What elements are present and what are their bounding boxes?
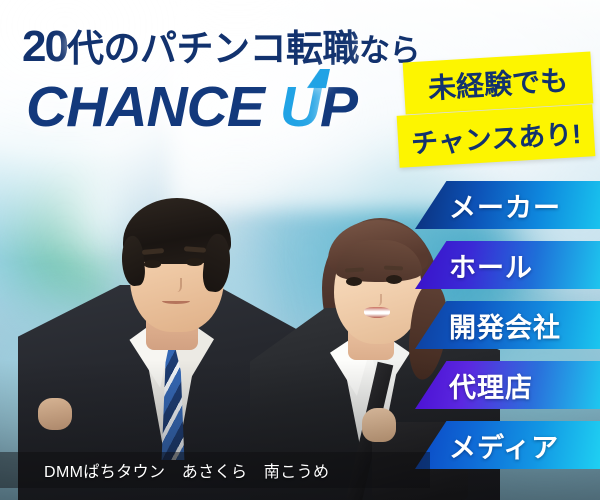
category-button-media[interactable]: メディア [415, 421, 600, 469]
headline-number: 20 [22, 22, 67, 71]
headline-middle: 代のパチンコ転職 [67, 28, 359, 69]
badge-chance-available-label: チャンスあり! [410, 111, 582, 160]
category-label-agency: 代理店 [449, 366, 533, 405]
category-label-media: メディア [449, 426, 559, 465]
logo-word-up: UP [280, 74, 357, 140]
badge-no-experience-label: 未経験でも [427, 59, 569, 107]
category-label-hall: ホール [449, 246, 533, 285]
man-eye-left [144, 260, 161, 268]
category-button-development[interactable]: 開発会社 [415, 301, 600, 349]
woman-eye-right [386, 275, 402, 284]
category-label-maker: メーカー [449, 186, 561, 225]
man-eye-right [186, 258, 203, 266]
logo-word-chance: CHANCE [26, 74, 264, 140]
category-button-hall[interactable]: ホール [415, 241, 600, 289]
category-button-list: メーカー ホール 開発会社 代理店 メディア [415, 181, 600, 469]
advertisement-banner[interactable]: 20代のパチンコ転職なら CHANCE UP 未経験でも チャンスあり! メーカ… [0, 0, 600, 500]
up-arrow-icon [307, 69, 330, 88]
category-button-maker[interactable]: メーカー [415, 181, 600, 229]
man-nose [170, 278, 182, 292]
man-mouth [162, 298, 190, 304]
woman-mouth [364, 307, 390, 318]
credit-bar: DMMぱちタウン あさくら 南こうめ [0, 452, 430, 488]
credit-text: DMMぱちタウン あさくら 南こうめ [44, 458, 329, 482]
man-hand [38, 398, 72, 430]
page-title: 20代のパチンコ転職なら [22, 18, 420, 72]
brand-logo: CHANCE UP [26, 74, 357, 140]
woman-nose [372, 294, 382, 306]
category-label-development: 開発会社 [449, 306, 561, 345]
woman-hand [362, 408, 396, 442]
woman-eye-left [346, 277, 362, 286]
category-button-agency[interactable]: 代理店 [415, 361, 600, 409]
